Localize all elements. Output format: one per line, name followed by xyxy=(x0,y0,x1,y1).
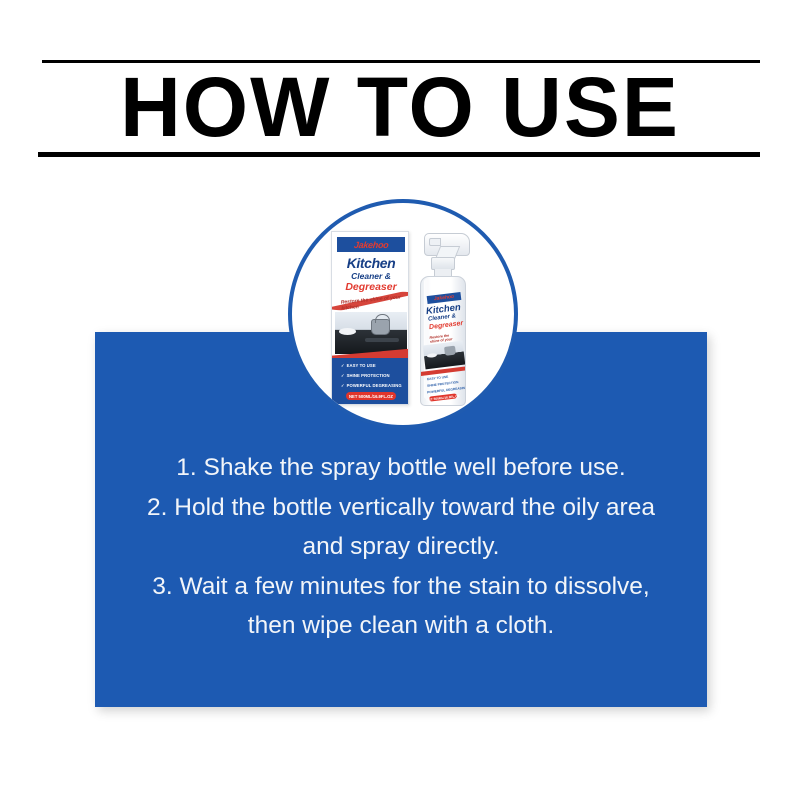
instruction-line: then wipe clean with a cloth. xyxy=(95,606,707,646)
stove-burner-icon xyxy=(365,338,399,342)
page-title: HOW TO USE xyxy=(0,62,800,152)
plate-icon xyxy=(427,353,437,358)
carton-product-subtitle-2: Degreaser xyxy=(332,281,409,293)
carton-brand-label: Jakehoo xyxy=(353,240,388,250)
bottle-kitchen-photo xyxy=(423,341,466,370)
bottle-brand-label: Jakehoo xyxy=(434,294,455,302)
instruction-line: 1. Shake the spray bottle well before us… xyxy=(95,448,707,488)
bottle-feature-item: EASY TO USE xyxy=(427,375,449,382)
bottle-trigger-head xyxy=(424,233,470,256)
kettle-icon xyxy=(444,346,456,356)
carton-tagline: Restore the shine of your kitchen xyxy=(341,294,404,311)
carton-brand-bar: Jakehoo xyxy=(337,237,405,252)
infographic-canvas: HOW TO USE 1. Shake the spray bottle wel… xyxy=(0,0,800,800)
check-icon: ✓ xyxy=(341,363,345,368)
carton-kitchen-photo xyxy=(335,312,407,354)
carton-feature-label: POWERFUL DEGREASING xyxy=(347,383,402,388)
carton-feature-item: ✓SHINE PROTECTION xyxy=(341,373,390,378)
bottle-net-weight-badge: NET 500ML/16.9FL.OZ xyxy=(429,393,457,401)
header-rule-bottom xyxy=(38,152,760,157)
carton-feature-item: ✓POWERFUL DEGREASING xyxy=(341,383,402,388)
product-image-circle: Jakehoo Kitchen Cleaner & Degreaser Rest… xyxy=(288,199,518,429)
product-stage: Jakehoo Kitchen Cleaner & Degreaser Rest… xyxy=(292,203,518,429)
carton-feature-label: EASY TO USE xyxy=(347,363,376,368)
carton-net-weight-badge: NET 500ML/16.9FL.OZ xyxy=(346,392,396,400)
instruction-line: 3. Wait a few minutes for the stain to d… xyxy=(95,567,707,607)
product-spray-bottle: Jakehoo Kitchen Cleaner & Degreaser Rest… xyxy=(410,233,474,408)
instruction-line: and spray directly. xyxy=(95,527,707,567)
bottle-body: Jakehoo Kitchen Cleaner & Degreaser Rest… xyxy=(420,276,466,406)
instruction-line: 2. Hold the bottle vertically toward the… xyxy=(95,488,707,528)
plate-icon xyxy=(339,328,356,335)
carton-product-subtitle-1: Cleaner & xyxy=(332,271,409,281)
check-icon: ✓ xyxy=(341,373,345,378)
bottle-nozzle-icon xyxy=(429,238,441,246)
check-icon: ✓ xyxy=(341,383,345,388)
carton-product-title: Kitchen xyxy=(332,255,409,271)
carton-feature-label: SHINE PROTECTION xyxy=(347,373,390,378)
instructions-list: 1. Shake the spray bottle well before us… xyxy=(95,448,707,646)
carton-feature-item: ✓EASY TO USE xyxy=(341,363,376,368)
kettle-icon xyxy=(371,319,390,335)
product-carton-box: Jakehoo Kitchen Cleaner & Degreaser Rest… xyxy=(331,231,409,405)
